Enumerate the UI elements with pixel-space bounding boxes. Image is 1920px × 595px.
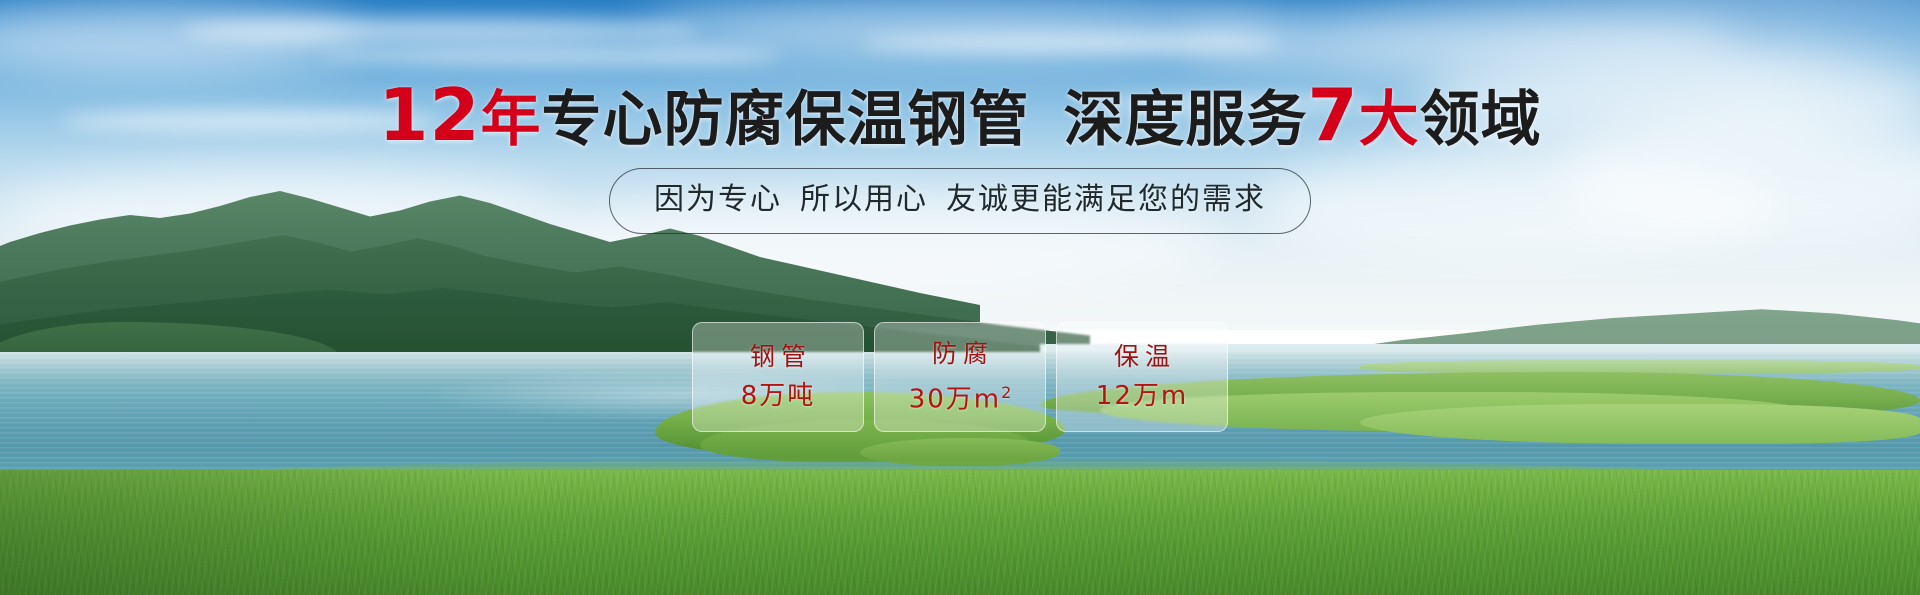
slogan-segment-1: 因为专心 — [654, 182, 782, 217]
stat-card-group: 钢管 8万吨 防腐 30万m2 保温 12万m — [692, 322, 1228, 432]
slogan-segment-3: 友诚更能满足您的需求 — [946, 182, 1266, 217]
headline-part2: 深度服务 — [1064, 85, 1308, 155]
stat-card-value: 30万m2 — [909, 378, 1012, 415]
slogan-segment-2: 所以用心 — [800, 182, 928, 217]
cloud — [1260, 150, 1780, 260]
stat-card-value-text: 12万m — [1096, 381, 1188, 411]
stat-card-anticorrosion[interactable]: 防腐 30万m2 — [874, 322, 1046, 432]
stat-card-title: 钢管 — [744, 343, 812, 371]
headline-fields-text: 领域 — [1420, 85, 1542, 155]
headline-part1: 专心防腐保温钢管 — [542, 85, 1030, 155]
stat-card-insulation[interactable]: 保温 12万m — [1056, 322, 1228, 432]
headline-fields-text-red: 大 — [1359, 85, 1420, 155]
stat-card-value: 8万吨 — [741, 381, 816, 411]
slogan-pill: 因为专心所以用心友诚更能满足您的需求 — [609, 168, 1311, 234]
headline-fields-number: 7 — [1308, 73, 1359, 157]
stat-card-title: 防腐 — [926, 340, 994, 368]
stat-card-value-text: 30万m — [909, 384, 1001, 414]
cloud — [180, 18, 700, 44]
headline: 12年专心防腐保温钢管深度服务7大领域 — [0, 80, 1920, 155]
headline-years-unit: 年 — [481, 85, 542, 155]
stat-card-value: 12万m — [1096, 381, 1188, 411]
cloud — [320, 46, 780, 66]
stat-card-steel-pipe[interactable]: 钢管 8万吨 — [692, 322, 864, 432]
stat-card-value-superscript: 2 — [1001, 383, 1011, 402]
headline-years-number: 12 — [378, 73, 480, 157]
stat-card-title: 保温 — [1108, 343, 1176, 371]
grass-shadow — [0, 470, 520, 595]
stat-card-value-text: 8万吨 — [741, 381, 816, 411]
hero-banner: 12年专心防腐保温钢管深度服务7大领域 因为专心所以用心友诚更能满足您的需求 钢… — [0, 0, 1920, 595]
